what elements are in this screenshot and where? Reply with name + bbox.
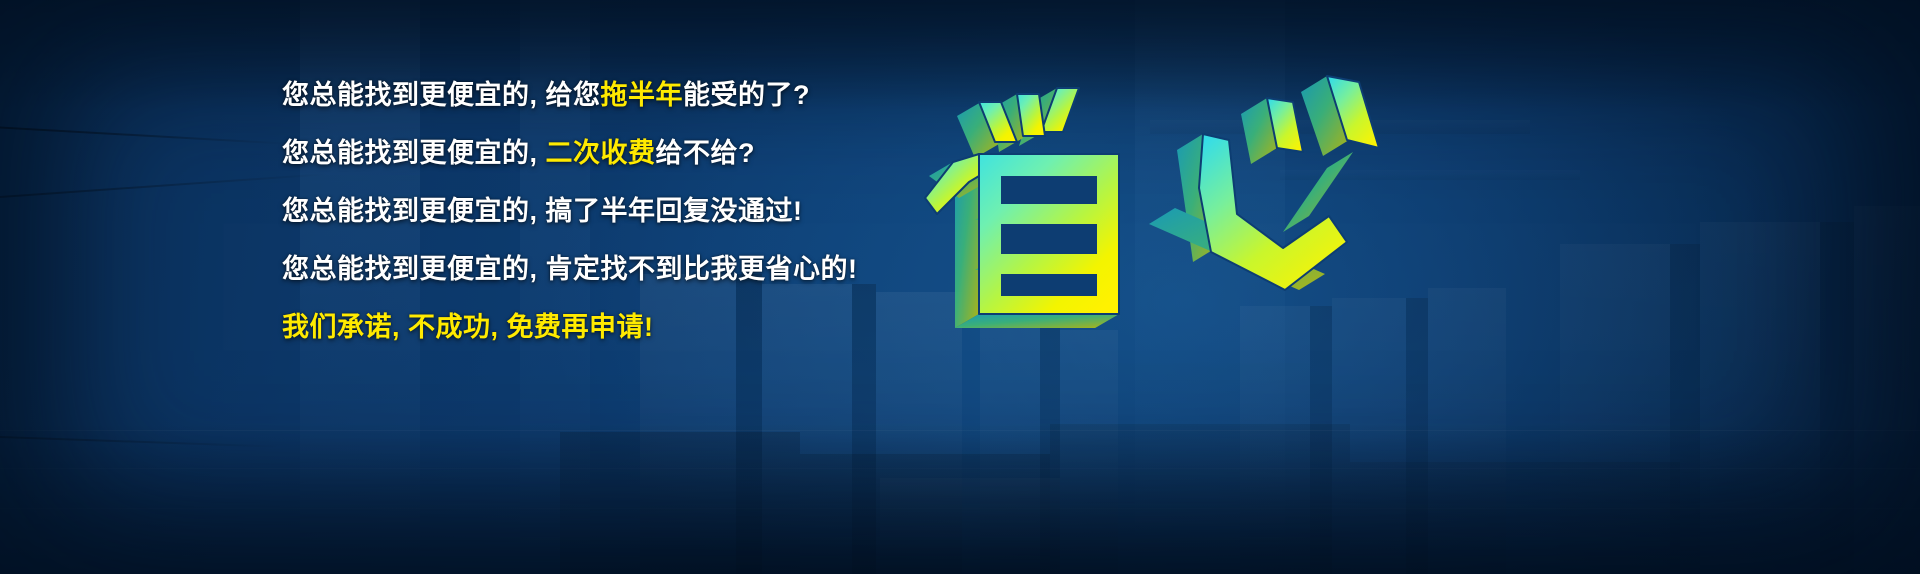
promo-banner: 您总能找到更便宜的, 给您拖半年能受的了? 您总能找到更便宜的, 二次收费给不给… xyxy=(0,0,1920,574)
copy-line-1: 您总能找到更便宜的, 给您拖半年能受的了? xyxy=(282,82,922,109)
copy-line-1-part-a: 您总能找到更便宜的, 给您 xyxy=(282,80,601,110)
copy-line-3: 您总能找到更便宜的, 搞了半年回复没通过! xyxy=(282,198,922,225)
copy-line-5-promise: 我们承诺, 不成功, 免费再申请! xyxy=(282,314,922,341)
logo-char-xin xyxy=(1149,76,1379,290)
copy-line-4: 您总能找到更便宜的, 肯定找不到比我更省心的! xyxy=(282,256,922,283)
copy-line-2-highlight: 二次收费 xyxy=(546,138,656,168)
copy-line-2: 您总能找到更便宜的, 二次收费给不给? xyxy=(282,140,922,167)
logo-char-sheng xyxy=(925,88,1119,328)
copy-line-1-part-b: 能受的了? xyxy=(683,80,810,110)
shengxin-logo xyxy=(905,62,1375,392)
headline-copy-block: 您总能找到更便宜的, 给您拖半年能受的了? 您总能找到更便宜的, 二次收费给不给… xyxy=(282,82,922,341)
copy-line-1-highlight: 拖半年 xyxy=(601,80,684,110)
copy-line-2-part-b: 给不给? xyxy=(656,138,756,168)
copy-line-2-part-a: 您总能找到更便宜的, xyxy=(282,138,546,168)
